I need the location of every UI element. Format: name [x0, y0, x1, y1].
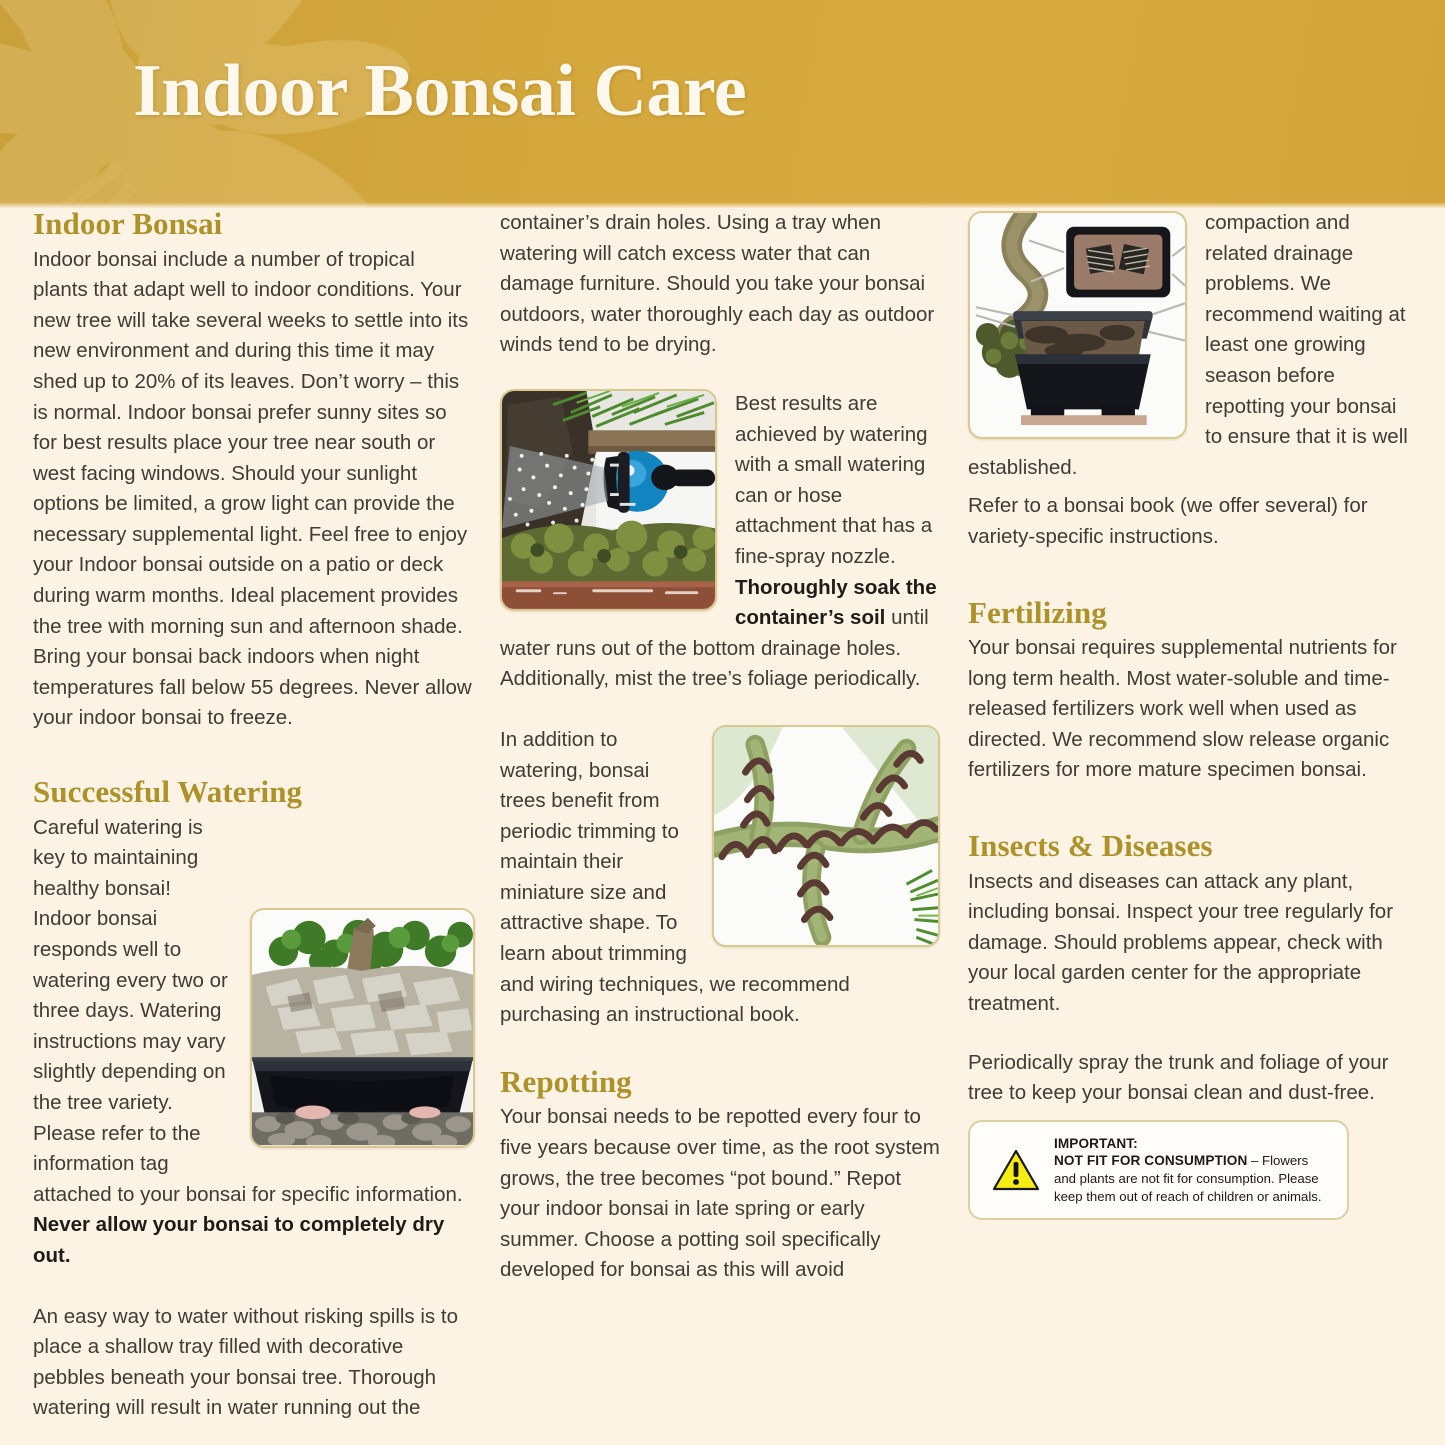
- paragraph-insects-diseases-2: Periodically spray the trunk and foliage…: [968, 1048, 1415, 1109]
- photo-pot-with-drainage-mesh: [968, 211, 1187, 439]
- warning-line-2-rest: – Flowers: [1247, 1153, 1308, 1168]
- photo-wired-bonsai-branch: [712, 725, 940, 947]
- paragraph-bonsai-book-reference: Refer to a bonsai book (we offer several…: [968, 491, 1415, 552]
- column-right: compaction and related drainage problems…: [968, 208, 1415, 1109]
- photo-image: [252, 910, 473, 1146]
- warning-line-2-emphasis: NOT FIT FOR CONSUMPTION: [1054, 1153, 1247, 1168]
- paragraph-watering-tray: An easy way to water without risking spi…: [33, 1302, 475, 1424]
- column-middle: container’s drain holes. Using a tray wh…: [500, 208, 940, 1286]
- trimming-block: In addition to watering, bonsai trees be…: [500, 725, 940, 1031]
- photo-image: [714, 727, 938, 945]
- photo-jade-bonsai-pebble-tray: [250, 908, 475, 1148]
- warning-triangle-exclamation-icon: [992, 1149, 1040, 1191]
- section-heading-repotting: Repotting: [500, 1066, 940, 1099]
- photo-hose-nozzle-spraying: [500, 389, 717, 611]
- content-columns: Indoor Bonsai Indoor bonsai include a nu…: [0, 208, 1445, 1445]
- paragraph-indoor-bonsai: Indoor bonsai include a number of tropic…: [33, 245, 475, 735]
- watering-intro-block: Careful watering is key to maintaining h…: [33, 813, 475, 1272]
- watering-method-block: Best results are achieved by watering wi…: [500, 389, 940, 695]
- paragraph-drain-holes-continuation: container’s drain holes. Using a tray wh…: [500, 208, 940, 361]
- section-heading-insects-diseases: Insects & Diseases: [968, 830, 1415, 863]
- warning-line-4: keep them out of reach of children or an…: [1054, 1188, 1322, 1206]
- important-warning-box: IMPORTANT: NOT FIT FOR CONSUMPTION – Flo…: [968, 1120, 1349, 1220]
- repotting-continuation-block: compaction and related drainage problems…: [968, 208, 1415, 483]
- section-heading-successful-watering: Successful Watering: [33, 776, 475, 809]
- page-header: Indoor Bonsai Care: [0, 0, 1445, 208]
- paragraph-fertilizing: Your bonsai requires supplemental nutrie…: [968, 633, 1415, 786]
- photo-image: [970, 213, 1185, 437]
- paragraph-repotting: Your bonsai needs to be repotted every f…: [500, 1102, 940, 1286]
- photo-image: [502, 391, 715, 609]
- column-left: Indoor Bonsai Indoor bonsai include a nu…: [33, 208, 475, 1424]
- paragraph-watering-method-part1: Best results are achieved by watering wi…: [735, 392, 932, 568]
- warning-text-block: IMPORTANT: NOT FIT FOR CONSUMPTION – Flo…: [1054, 1135, 1322, 1205]
- warning-line-1: IMPORTANT:: [1054, 1135, 1322, 1153]
- page-title: Indoor Bonsai Care: [133, 54, 746, 128]
- section-heading-indoor-bonsai: Indoor Bonsai: [33, 208, 475, 241]
- section-heading-fertilizing: Fertilizing: [968, 597, 1415, 630]
- warning-line-2: NOT FIT FOR CONSUMPTION – Flowers: [1054, 1152, 1322, 1170]
- paragraph-watering-intro-emphasis: Never allow your bonsai to completely dr…: [33, 1213, 444, 1267]
- paragraph-insects-diseases-1: Insects and diseases can attack any plan…: [968, 867, 1415, 1020]
- warning-line-3: and plants are not fit for consumption. …: [1054, 1170, 1322, 1188]
